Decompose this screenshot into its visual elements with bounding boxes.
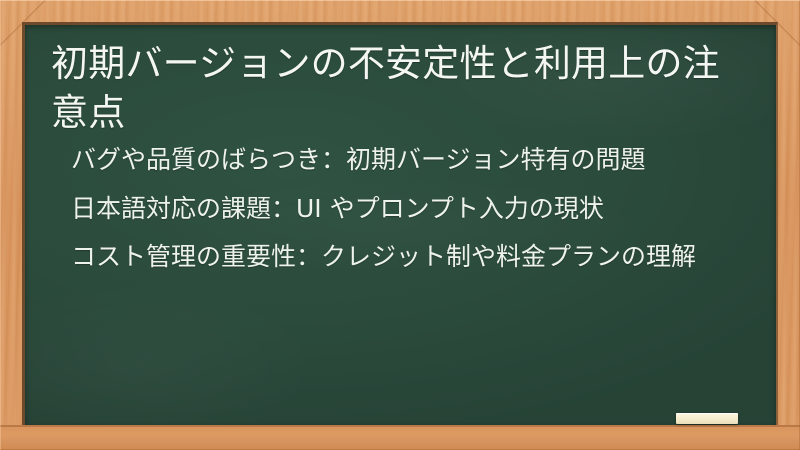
- board-content: 初期バージョンの不安定性と利用上の注意点 バグや品質のばらつき：初期バージョン特…: [25, 25, 776, 425]
- chalk-stick-icon: [676, 413, 738, 424]
- chalkboard-slide: 初期バージョンの不安定性と利用上の注意点 バグや品質のばらつき：初期バージョン特…: [0, 0, 800, 450]
- bullet-item-2: 日本語対応の課題：UI やプロンプト入力の現状: [71, 192, 750, 226]
- bullet-item-1: バグや品質のばらつき：初期バージョン特有の問題: [71, 143, 750, 177]
- slide-title: 初期バージョンの不安定性と利用上の注意点: [51, 39, 750, 137]
- bullet-item-3: コスト管理の重要性：クレジット制や料金プランの理解: [71, 240, 750, 274]
- chalkboard-surface: 初期バージョンの不安定性と利用上の注意点 バグや品質のばらつき：初期バージョン特…: [22, 22, 778, 425]
- chalk-ledge: [0, 425, 800, 450]
- bullet-list: バグや品質のばらつき：初期バージョン特有の問題 日本語対応の課題：UI やプロン…: [51, 143, 750, 274]
